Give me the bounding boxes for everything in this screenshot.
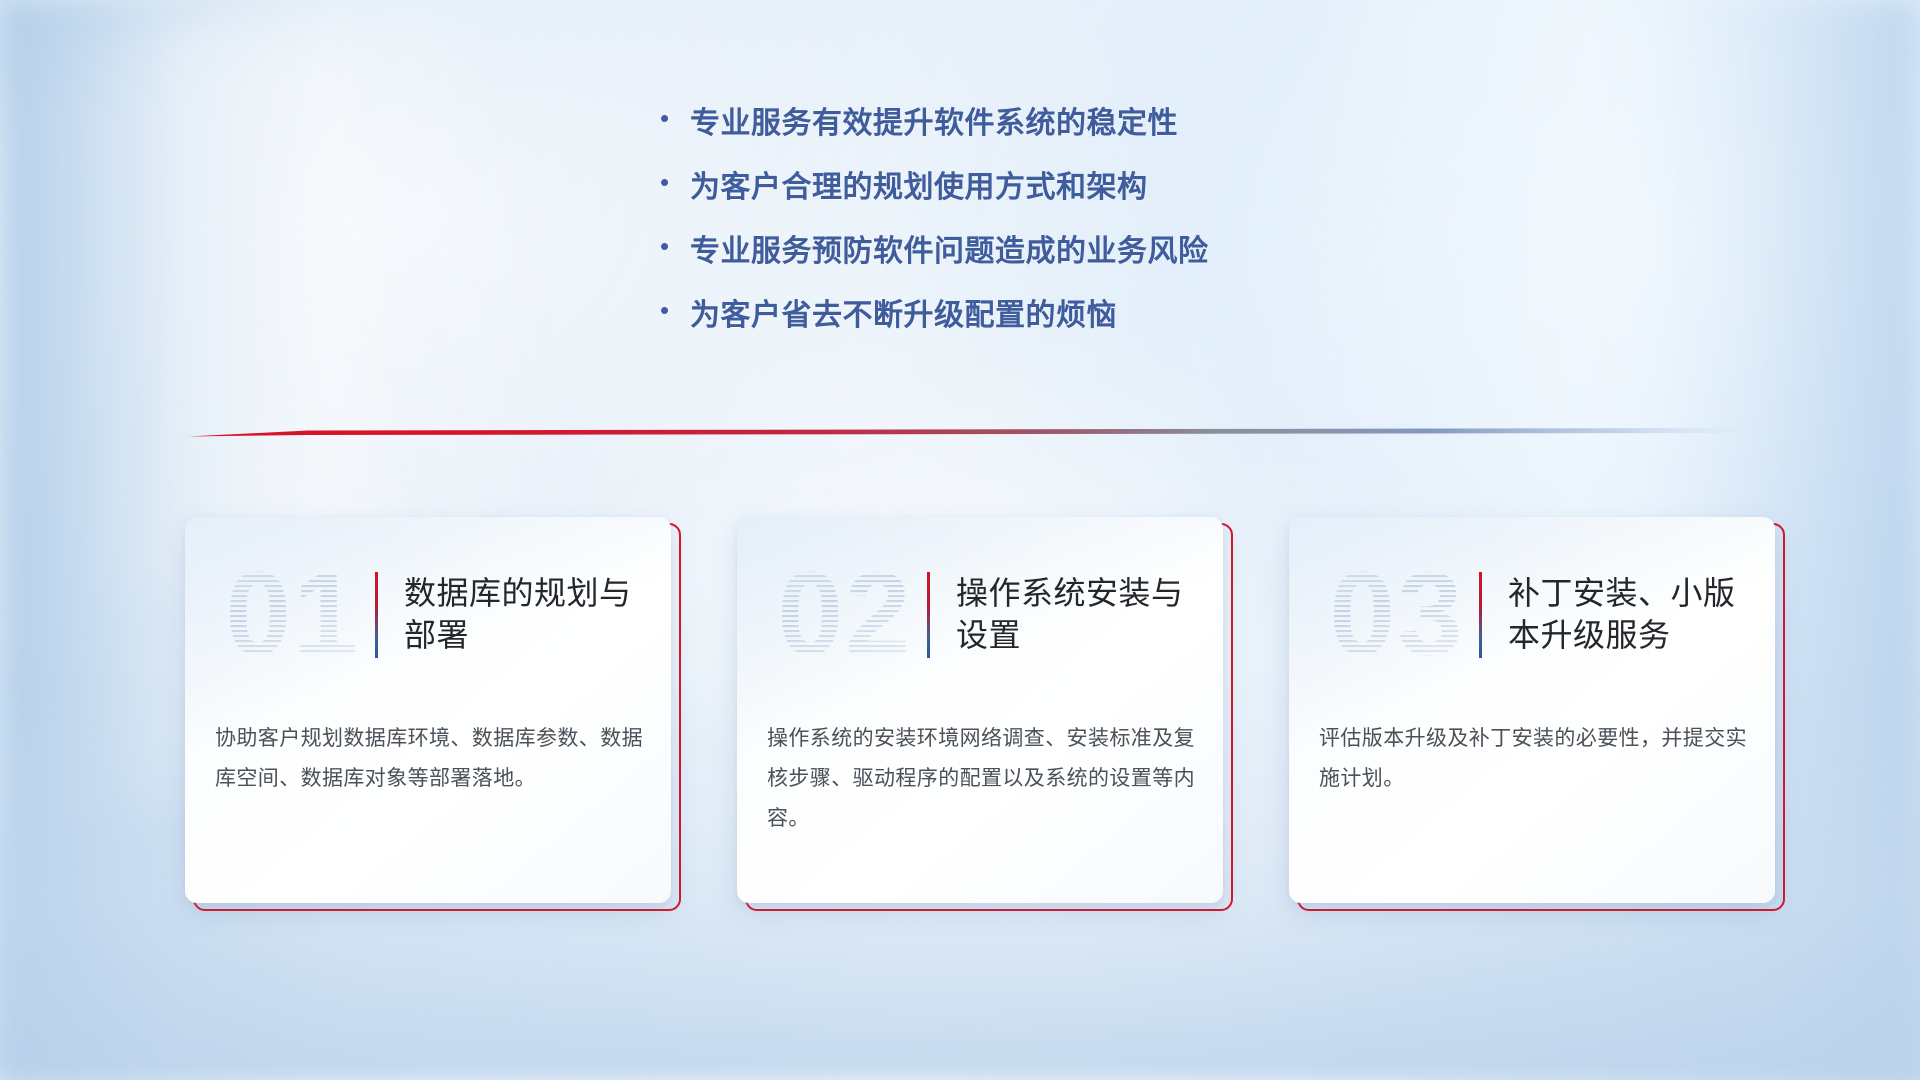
- card-ghost-number-02: 02: [763, 550, 927, 680]
- section-divider: [188, 424, 1744, 440]
- card-title: 操作系统安装与设置: [956, 573, 1202, 656]
- card-header: 02 操作系统安装与设置: [737, 545, 1223, 685]
- bullet-point-icon: •: [660, 105, 690, 131]
- card-title: 补丁安装、小版本升级服务: [1508, 573, 1754, 656]
- divider-shape: [188, 424, 1744, 440]
- list-item: • 专业服务预防软件问题造成的业务风险: [660, 226, 1209, 290]
- card-surface: 02 操作系统安装与设置 操作系统的安装环境网络调查、安装标准及复核步骤、驱动程…: [737, 517, 1223, 903]
- svg-text:01: 01: [225, 550, 360, 680]
- service-card-01[interactable]: 01 数据库的规划与部署 协助客户规划数据库环境、数据库参数、数据库空间、数据库…: [185, 517, 679, 909]
- striped-numeral-graphic: 01: [211, 550, 375, 680]
- card-surface: 03 补丁安装、小版本升级服务 评估版本升级及补丁安装的必要性，并提交实施计划。: [1289, 517, 1775, 903]
- card-accent-bar: [375, 572, 378, 658]
- card-accent-bar: [1479, 572, 1482, 658]
- card-surface: 01 数据库的规划与部署 协助客户规划数据库环境、数据库参数、数据库空间、数据库…: [185, 517, 671, 903]
- bullet-point-icon: •: [660, 297, 690, 323]
- card-title: 数据库的规划与部署: [404, 573, 650, 656]
- svg-text:02: 02: [777, 550, 912, 680]
- svg-text:03: 03: [1329, 550, 1464, 680]
- striped-numeral-graphic: 02: [763, 550, 927, 680]
- bullet-point-icon: •: [660, 233, 690, 259]
- bullet-point-icon: •: [660, 169, 690, 195]
- bullet-item-label: 专业服务预防软件问题造成的业务风险: [690, 226, 1209, 270]
- card-description: 协助客户规划数据库环境、数据库参数、数据库空间、数据库对象等部署落地。: [215, 719, 643, 799]
- benefits-bullet-list: • 专业服务有效提升软件系统的稳定性 • 为客户合理的规划使用方式和架构 • 专…: [660, 98, 1209, 354]
- bullet-item-label: 为客户合理的规划使用方式和架构: [690, 162, 1148, 206]
- list-item: • 为客户省去不断升级配置的烦恼: [660, 290, 1209, 354]
- card-ghost-number-03: 03: [1315, 550, 1479, 680]
- card-header: 03 补丁安装、小版本升级服务: [1289, 545, 1775, 685]
- list-item: • 为客户合理的规划使用方式和架构: [660, 162, 1209, 226]
- service-card-03[interactable]: 03 补丁安装、小版本升级服务 评估版本升级及补丁安装的必要性，并提交实施计划。: [1289, 517, 1783, 909]
- striped-numeral-graphic: 03: [1315, 550, 1479, 680]
- service-card-02[interactable]: 02 操作系统安装与设置 操作系统的安装环境网络调查、安装标准及复核步骤、驱动程…: [737, 517, 1231, 909]
- service-card-row: 01 数据库的规划与部署 协助客户规划数据库环境、数据库参数、数据库空间、数据库…: [185, 517, 1783, 919]
- bullet-item-label: 为客户省去不断升级配置的烦恼: [690, 290, 1117, 334]
- card-ghost-number-01: 01: [211, 550, 375, 680]
- card-description: 操作系统的安装环境网络调查、安装标准及复核步骤、驱动程序的配置以及系统的设置等内…: [767, 719, 1195, 839]
- card-accent-bar: [927, 572, 930, 658]
- list-item: • 专业服务有效提升软件系统的稳定性: [660, 98, 1209, 162]
- card-header: 01 数据库的规划与部署: [185, 545, 671, 685]
- card-description: 评估版本升级及补丁安装的必要性，并提交实施计划。: [1319, 719, 1747, 799]
- bullet-item-label: 专业服务有效提升软件系统的稳定性: [690, 98, 1178, 142]
